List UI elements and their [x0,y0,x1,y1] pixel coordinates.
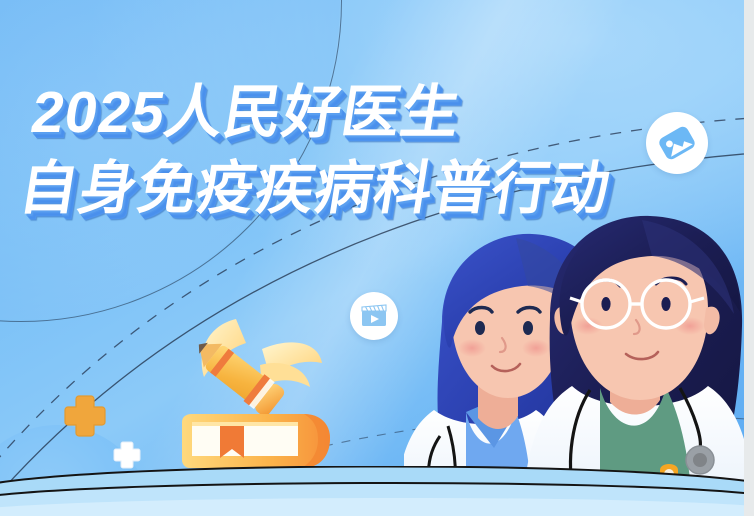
blush-right [522,339,550,357]
eye-left [475,321,485,335]
eye-right [523,321,533,335]
photo-icon-glyph [657,123,697,163]
blush-left [458,339,486,357]
banner-root: 图片 视频 2025人民好医生 自身免疫疾病科普行动 [0,0,754,516]
page-title: 2025人民好医生 自身免疫疾病科普行动 [15,84,626,218]
eye-left [601,297,610,311]
eye-right [661,297,670,311]
stethoscope-chestpiece-center [693,453,707,467]
plus-orange-icon [62,393,108,444]
desk-panel [0,466,744,516]
photo-icon[interactable]: 图片 [646,112,708,174]
book-top-edge [192,422,298,426]
right-gutter [744,0,754,516]
video-clapperboard-icon[interactable]: 视频 [350,292,398,340]
title-line-2: 自身免疫疾病科普行动 [15,160,614,218]
title-line-1: 2025人民好医生 [27,84,626,142]
blush-right [675,317,705,335]
video-icon-glyph [359,301,389,331]
book-pages [192,426,298,456]
